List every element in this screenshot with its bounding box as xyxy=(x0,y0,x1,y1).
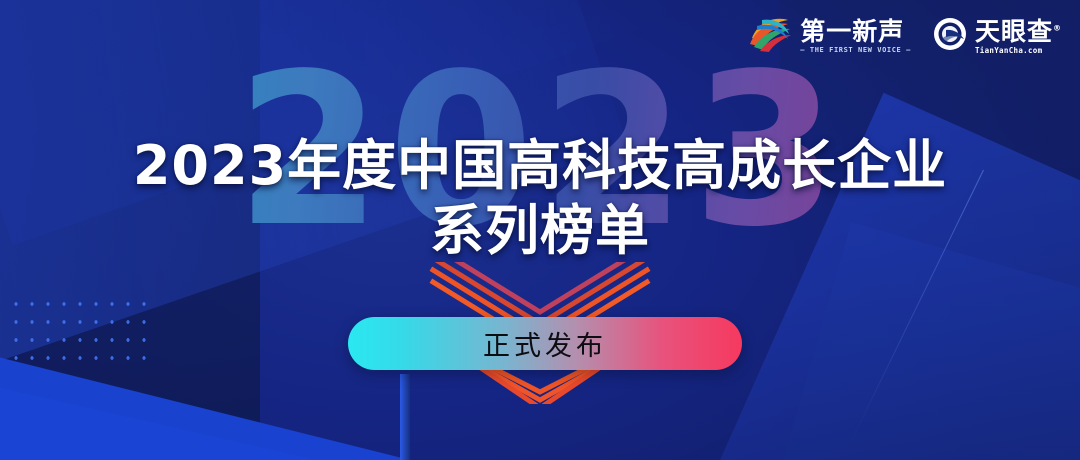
logo-tianyancha-cn: 天眼查® xyxy=(975,19,1062,44)
logo-tianyancha[interactable]: 天眼查® TianYanCha.com xyxy=(933,17,1062,56)
headline-line-1: 2023年度中国高科技高成长企业 xyxy=(0,138,1080,193)
logo-bar: 第一新声 — THE FIRST NEW VOICE — 天眼查® TianYa… xyxy=(748,14,1062,59)
logo-tianyancha-en: TianYanCha.com xyxy=(975,47,1062,55)
release-badge[interactable]: 正式发布 xyxy=(348,317,742,370)
logo-tianyancha-text: 天眼查® TianYanCha.com xyxy=(975,19,1062,55)
logo-diyixinsheng-text: 第一新声 — THE FIRST NEW VOICE — xyxy=(800,19,911,54)
logo-diyixinsheng-cn: 第一新声 xyxy=(800,19,911,44)
chevron-down-icon xyxy=(425,262,655,320)
trademark-icon: ® xyxy=(1053,23,1062,32)
chevron-decoration-top xyxy=(0,262,1080,325)
logo-diyixinsheng-en: — THE FIRST NEW VOICE — xyxy=(800,47,911,54)
logo-diyixinsheng[interactable]: 第一新声 — THE FIRST NEW VOICE — xyxy=(748,14,911,59)
headline: 2023年度中国高科技高成长企业 系列榜单 xyxy=(0,138,1080,258)
logo-tianyancha-cn-label: 天眼查 xyxy=(975,17,1053,46)
headline-line-2: 系列榜单 xyxy=(0,203,1080,258)
release-badge-label: 正式发布 xyxy=(483,324,607,363)
eye-lens-logo-icon xyxy=(933,17,967,56)
promo-banner: 2023 2023年度中国高科技高成长企业 系列榜单 正式发布 xyxy=(0,0,1080,460)
swoosh-logo-icon xyxy=(748,14,792,59)
